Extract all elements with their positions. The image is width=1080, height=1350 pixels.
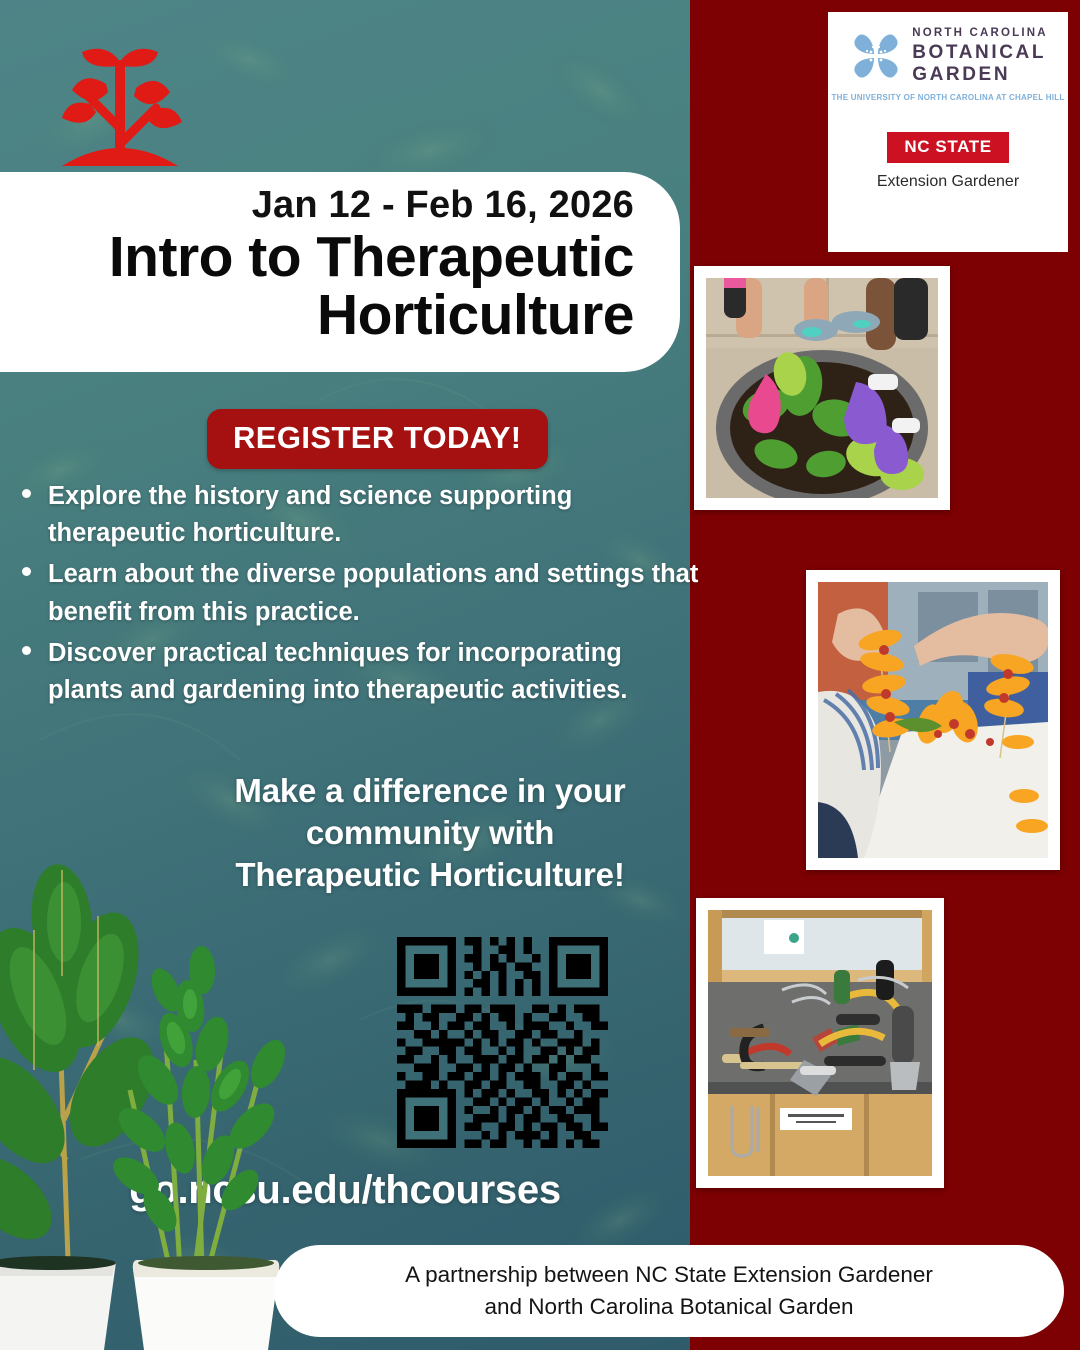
list-item: Learn about the diverse populations and … (48, 556, 700, 630)
list-item: Explore the history and science supporti… (48, 478, 700, 552)
poster-canvas: Jan 12 - Feb 16, 2026 Intro to Therapeut… (0, 0, 1080, 1350)
four-petal-flower-icon (848, 28, 904, 84)
bullet-dot-icon (22, 567, 31, 576)
photo-container-garden-planting (694, 266, 950, 510)
ncbg-line-2: BOTANICAL (912, 43, 1048, 62)
title-card: Jan 12 - Feb 16, 2026 Intro to Therapeut… (0, 172, 680, 372)
benefits-list: Explore the history and science supporti… (14, 478, 700, 713)
ncbg-logo: NORTH CAROLINA BOTANICAL GARDEN (840, 28, 1056, 84)
footer-line-1: A partnership between NC State Extension… (405, 1259, 933, 1291)
bullet-text: Discover practical techniques for incorp… (48, 639, 628, 704)
bullet-dot-icon (22, 646, 31, 655)
potted-houseplants-illustration (0, 830, 320, 1350)
partnership-footer: A partnership between NC State Extension… (274, 1245, 1064, 1337)
page-title: Intro to Therapeutic Horticulture (0, 228, 634, 344)
list-item: Discover practical techniques for incorp… (48, 635, 700, 709)
photo-fruit-garland-craft (806, 570, 1060, 870)
tagline-line-1: Make a difference in your (170, 770, 690, 812)
registration-qr-code[interactable] (397, 937, 608, 1148)
extension-gardener-label: Extension Gardener (877, 173, 1019, 191)
seedling-logo-icon (52, 32, 188, 172)
footer-line-2: and North Carolina Botanical Garden (405, 1291, 933, 1323)
bullet-text: Explore the history and science supporti… (48, 482, 572, 547)
bullet-text: Learn about the diverse populations and … (48, 560, 698, 625)
partner-logo-panel: NORTH CAROLINA BOTANICAL GARDEN THE UNIV… (828, 12, 1068, 252)
ncbg-line-1: NORTH CAROLINA (912, 28, 1048, 40)
register-today-button[interactable]: REGISTER TODAY! (207, 409, 548, 469)
photo-adaptive-garden-tools (696, 898, 944, 1188)
ncbg-line-3: GARDEN (912, 65, 1048, 84)
date-range: Jan 12 - Feb 16, 2026 (252, 186, 634, 226)
bullet-dot-icon (22, 489, 31, 498)
nc-state-logo: NC STATE (887, 132, 1008, 163)
ncbg-subtitle: THE UNIVERSITY OF NORTH CAROLINA AT CHAP… (832, 93, 1065, 102)
